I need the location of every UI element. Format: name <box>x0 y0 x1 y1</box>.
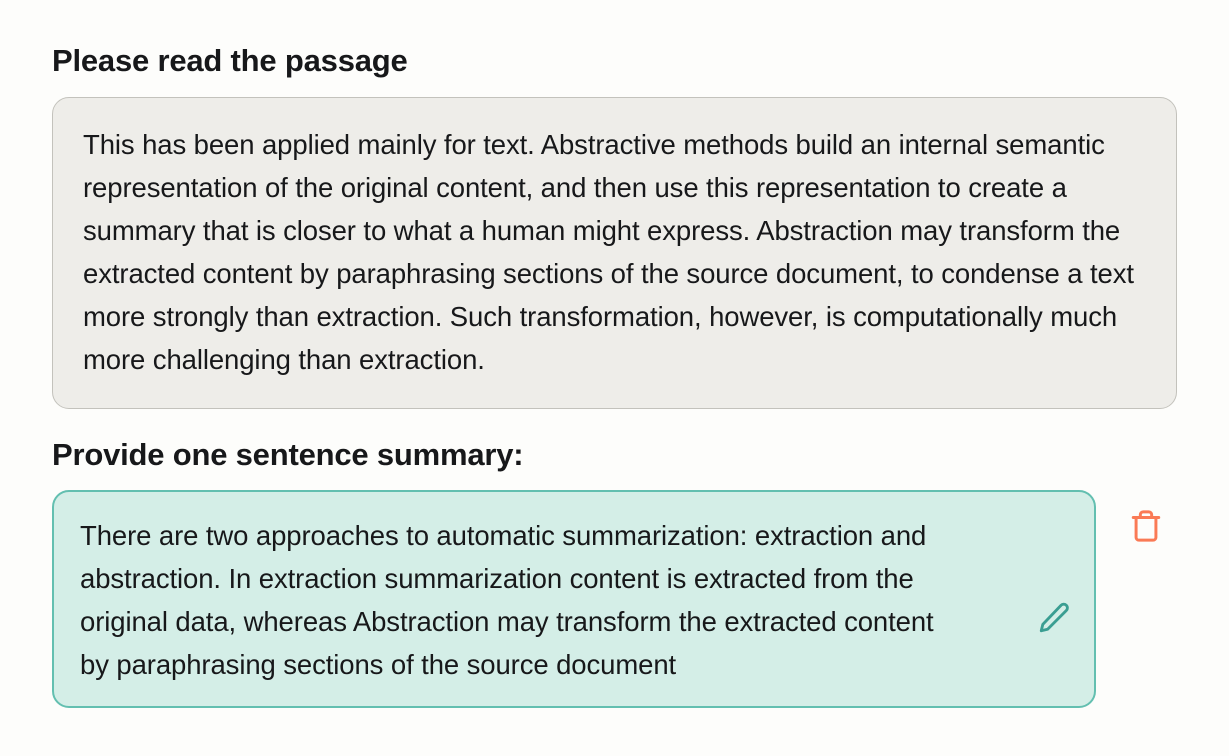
edit-summary-button[interactable] <box>1032 597 1076 641</box>
delete-summary-button[interactable] <box>1115 496 1177 558</box>
task-page: Please read the passage This has been ap… <box>0 0 1229 756</box>
pencil-icon <box>1037 601 1071 638</box>
summary-input[interactable]: There are two approaches to automatic su… <box>52 490 1096 708</box>
passage-panel: This has been applied mainly for text. A… <box>52 97 1177 409</box>
summary-row: There are two approaches to automatic su… <box>52 490 1177 708</box>
trash-icon <box>1129 509 1163 546</box>
summary-heading: Provide one sentence summary: <box>52 409 1177 472</box>
passage-text: This has been applied mainly for text. A… <box>83 123 1144 381</box>
passage-heading: Please read the passage <box>52 0 1177 78</box>
summary-input-value: There are two approaches to automatic su… <box>80 514 950 686</box>
